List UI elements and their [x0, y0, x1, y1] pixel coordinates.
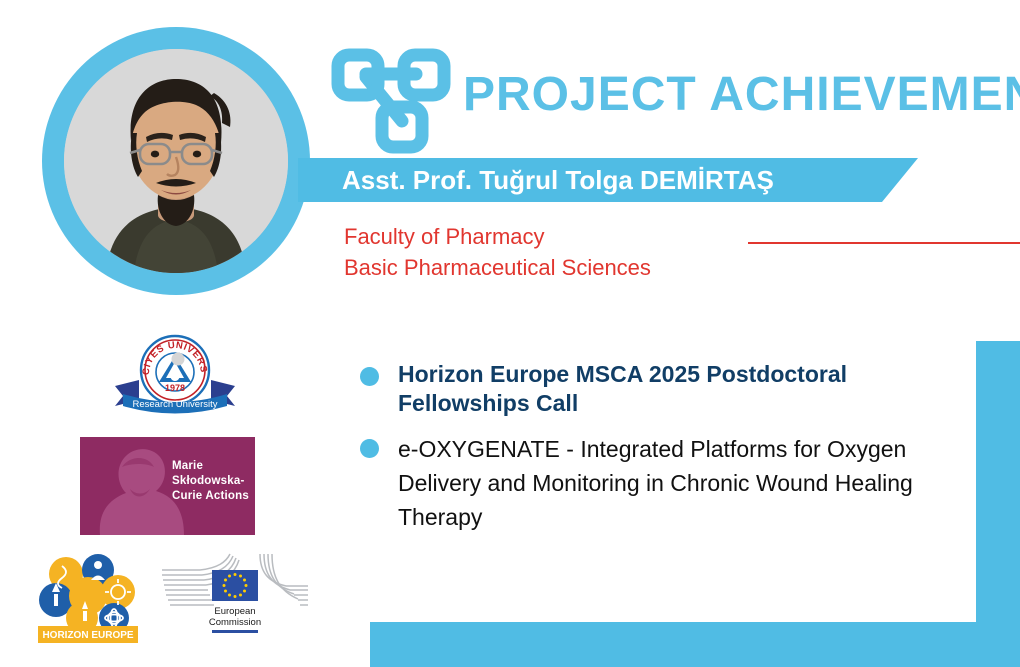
project-achievement-poster: Asst. Prof. Tuğrul Tolga DEMİRTAŞ: [0, 0, 1020, 667]
network-nodes-icon: [330, 47, 452, 157]
erciyes-university-logo: ERCIYES UNIVERSITY 1978 Research Univers…: [105, 328, 245, 420]
page-title: PROJECT ACHIEVEMENT: [463, 66, 1003, 126]
person-name: Asst. Prof. Tuğrul Tolga DEMİRTAŞ: [342, 158, 774, 202]
list-item: e-OXYGENATE - Integrated Platforms for O…: [360, 432, 970, 534]
portrait-photo: [64, 49, 288, 273]
horizon-europe-logo: HORIZON EUROPE: [32, 552, 144, 644]
msca-line-3: Curie Actions: [172, 489, 249, 504]
list-item: Horizon Europe MSCA 2025 Postdoctoral Fe…: [360, 360, 970, 418]
affiliation-line-2: Basic Pharmaceutical Sciences: [344, 252, 651, 283]
bullet-dot-icon: [360, 439, 379, 458]
msca-logo-text: Marie Skłodowska- Curie Actions: [172, 459, 249, 504]
achievement-list: Horizon Europe MSCA 2025 Postdoctoral Fe…: [360, 360, 970, 548]
bullet-dot-icon: [360, 367, 379, 386]
european-commission-logo: European Commission: [160, 552, 310, 644]
red-divider-rule: [748, 242, 1020, 244]
ec-line-2: Commission: [209, 617, 261, 628]
marie-sklodowska-curie-actions-logo: Marie Skłodowska- Curie Actions: [80, 437, 255, 535]
affiliation: Faculty of Pharmacy Basic Pharmaceutical…: [344, 221, 651, 283]
msca-line-2: Skłodowska-: [172, 474, 249, 489]
decorative-frame-horizontal-bar: [370, 622, 1020, 667]
svg-text:Research University: Research University: [133, 399, 218, 410]
decorative-frame-vertical-bar: [976, 341, 1020, 667]
name-banner: Asst. Prof. Tuğrul Tolga DEMİRTAŞ: [298, 158, 918, 202]
ec-line-1: European: [214, 606, 255, 617]
portrait-illustration: [64, 49, 288, 273]
achievement-project-text: e-OXYGENATE - Integrated Platforms for O…: [398, 432, 970, 534]
portrait-ring: [42, 27, 310, 295]
svg-text:1978: 1978: [165, 383, 185, 393]
affiliation-line-1: Faculty of Pharmacy: [344, 221, 651, 252]
msca-line-1: Marie: [172, 459, 249, 474]
horizon-europe-banner-text: HORIZON EUROPE: [42, 630, 133, 641]
achievement-call-text: Horizon Europe MSCA 2025 Postdoctoral Fe…: [398, 360, 970, 418]
